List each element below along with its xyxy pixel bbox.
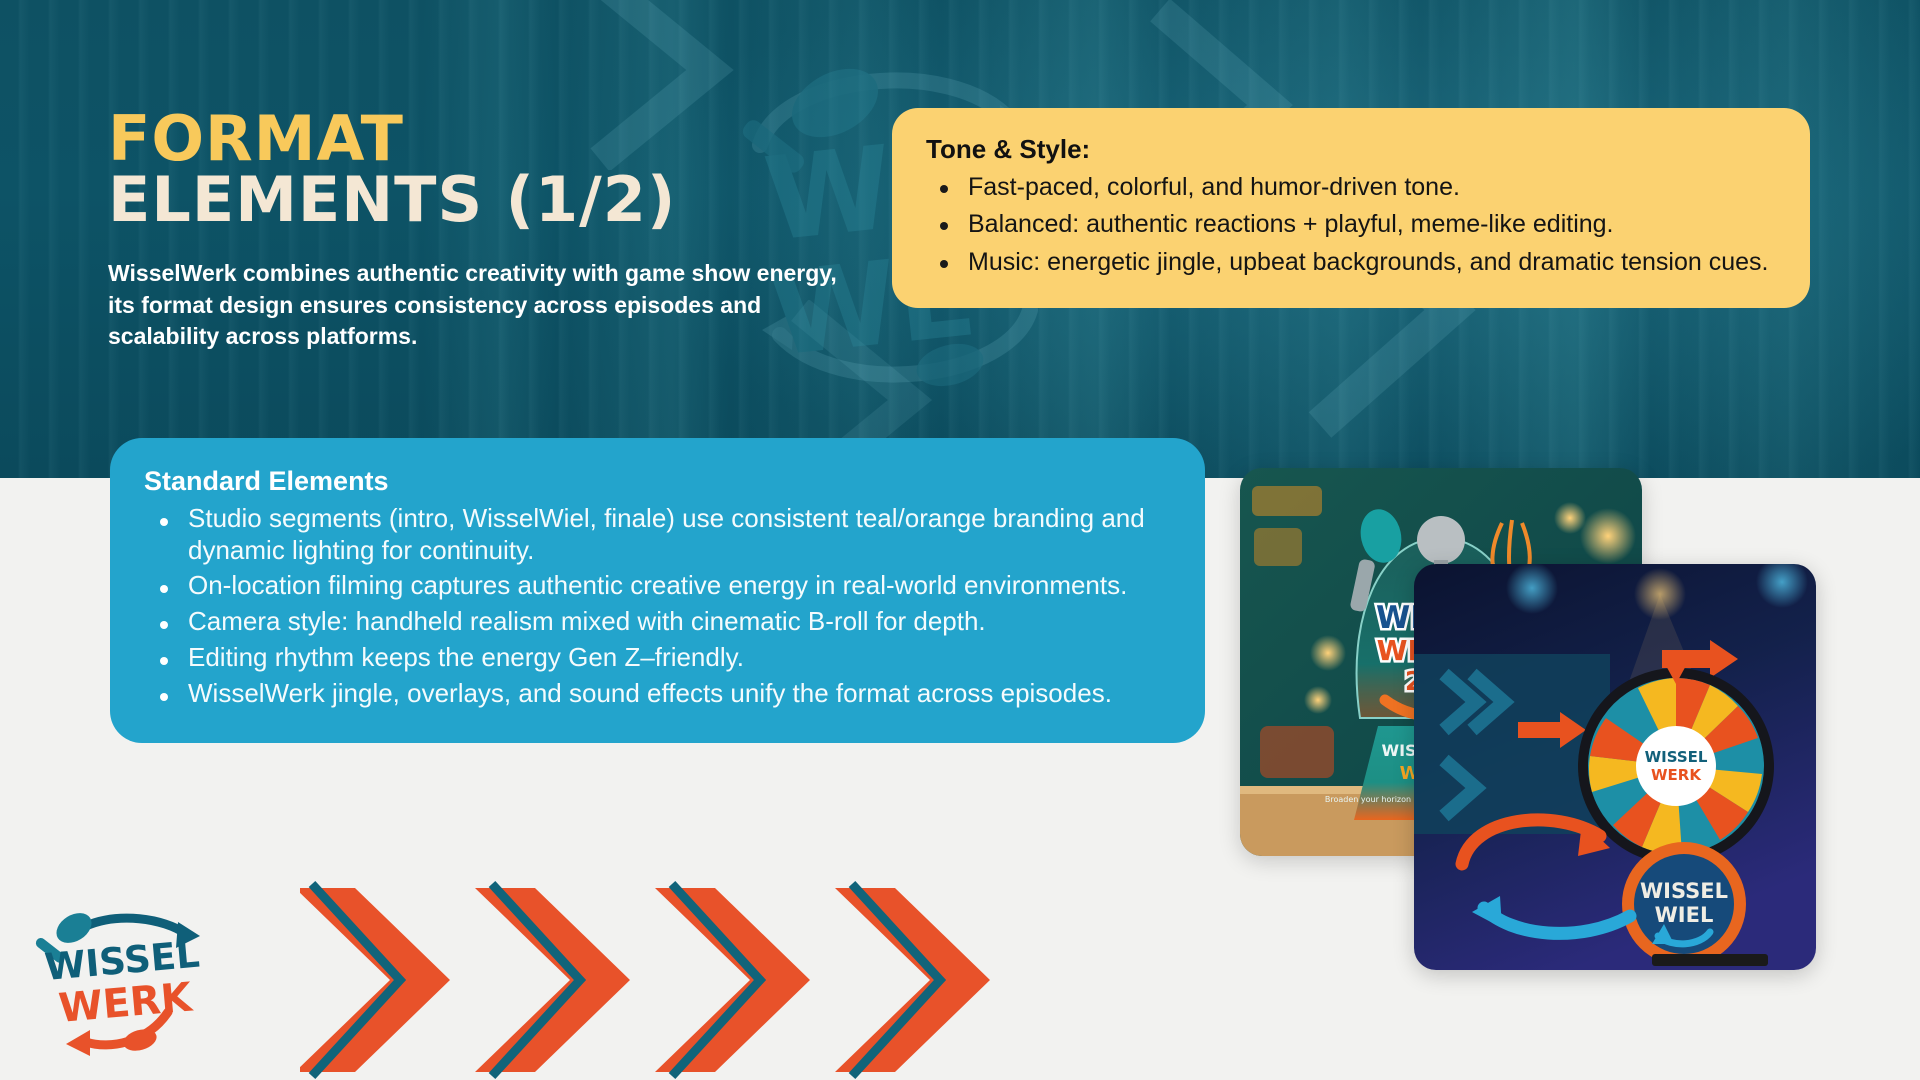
- wisselwiel-photo: WISSEL WERK WISSEL WIEL: [1414, 564, 1816, 970]
- title-block: FORMAT ELEMENTS (1/2) WisselWerk combine…: [108, 110, 768, 353]
- tone-card-heading: Tone & Style:: [926, 134, 1776, 165]
- list-item: Editing rhythm keeps the energy Gen Z–fr…: [144, 642, 1167, 674]
- tone-and-style-card: Tone & Style: Fast-paced, colorful, and …: [892, 108, 1810, 308]
- wheel-sign-line1: WISSEL: [1640, 879, 1728, 903]
- standard-elements-card: Standard Elements Studio segments (intro…: [110, 438, 1205, 743]
- wheel-hub-line2: WERK: [1651, 766, 1702, 784]
- page-title-line2: ELEMENTS (1/2): [108, 167, 768, 232]
- standard-card-heading: Standard Elements: [144, 466, 1167, 497]
- brand-logo[interactable]: WISSEL WERK: [28, 900, 218, 1065]
- list-item: Fast-paced, colorful, and humor-driven t…: [926, 171, 1776, 203]
- chevron-decoration-strip: [300, 880, 1100, 1080]
- wheel-sign-line2: WIEL: [1655, 903, 1714, 927]
- page-title-line1: FORMAT: [108, 110, 768, 167]
- slide-subtitle: WisselWerk combines authentic creativity…: [108, 258, 868, 353]
- list-item: Balanced: authentic reactions + playful,…: [926, 208, 1776, 240]
- list-item: Music: energetic jingle, upbeat backgrou…: [926, 246, 1776, 278]
- list-item: Camera style: handheld realism mixed wit…: [144, 606, 1167, 638]
- wheel-hub-line1: WISSEL: [1645, 748, 1708, 766]
- tone-bullet-list: Fast-paced, colorful, and humor-driven t…: [926, 171, 1776, 278]
- standard-bullet-list: Studio segments (intro, WisselWiel, fina…: [144, 503, 1167, 709]
- list-item: Studio segments (intro, WisselWiel, fina…: [144, 503, 1167, 566]
- list-item: WisselWerk jingle, overlays, and sound e…: [144, 678, 1167, 710]
- list-item: On-location filming captures authentic c…: [144, 570, 1167, 602]
